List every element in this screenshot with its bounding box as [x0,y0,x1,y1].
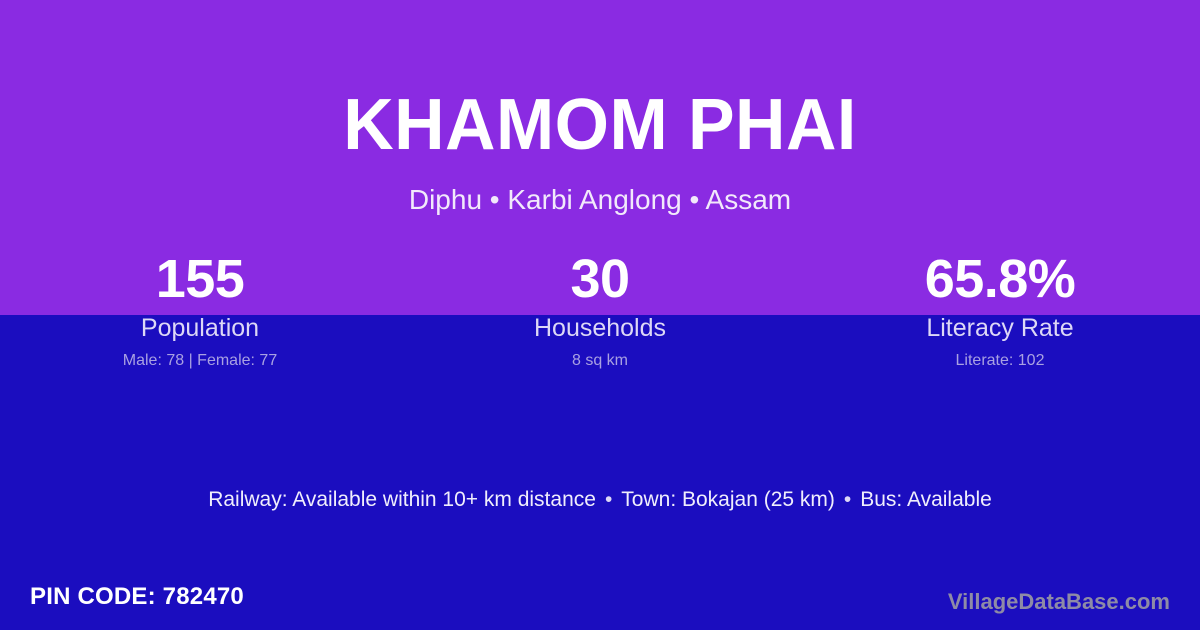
stat-population: 155 Population Male: 78 | Female: 77 [0,248,400,371]
amenity-railway: Railway: Available within 10+ km distanc… [208,488,596,511]
stat-literacy-rate: 65.8% Literacy Rate Literate: 102 [800,248,1200,371]
stat-value-literacy-rate: 65.8% [800,248,1200,310]
breadcrumb-location: Diphu • Karbi Anglong • Assam [0,183,1200,217]
amenities-line: Railway: Available within 10+ km distanc… [0,486,1200,514]
village-info-card: KHAMOM PHAI Diphu • Karbi Anglong • Assa… [0,0,1200,630]
amenity-separator-1: • [596,486,621,514]
stat-value-population: 155 [0,248,400,310]
amenity-bus: Bus: Available [860,488,992,511]
site-brand: VillageDataBase.com [948,588,1170,616]
stat-sub-households: 8 sq km [400,351,800,371]
stat-sub-literacy-rate: Literate: 102 [800,351,1200,371]
stat-label-population: Population [0,313,400,344]
stat-households: 30 Households 8 sq km [400,248,800,371]
page-title: KHAMOM PHAI [18,82,1182,168]
stat-sub-population: Male: 78 | Female: 77 [0,351,400,371]
footer: PIN CODE: 782470 VillageDataBase.com [0,558,1200,630]
amenity-separator-2: • [835,486,860,514]
stat-label-households: Households [400,313,800,344]
stats-row: 155 Population Male: 78 | Female: 77 30 … [0,248,1200,371]
stat-label-literacy-rate: Literacy Rate [800,313,1200,344]
pin-code: PIN CODE: 782470 [30,582,244,612]
stat-value-households: 30 [400,248,800,310]
amenity-town: Town: Bokajan (25 km) [621,488,835,511]
